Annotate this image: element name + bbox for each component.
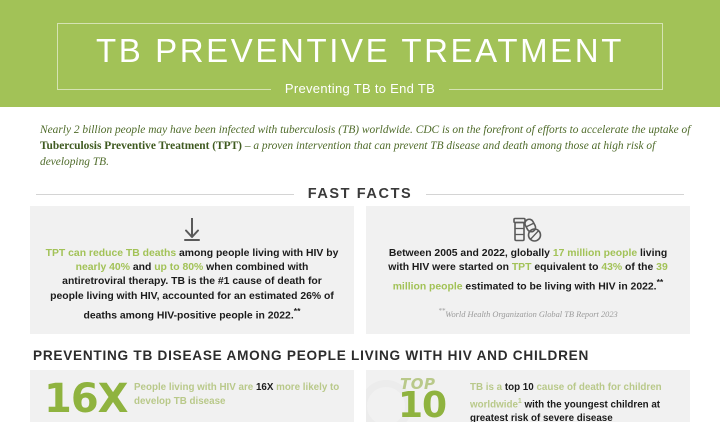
fast-fact-card-tpt-uptake: Between 2005 and 2022, globally 17 milli… [366,206,690,335]
intro-text-bold: Tuberculosis Preventive Treatment (TPT) [40,140,242,152]
stat-figure-16x: 16X [38,374,134,422]
hl-nearly-40: nearly 40% [76,262,130,273]
hl-up-to-80: up to 80% [154,262,203,273]
hl-43-percent: 43% [601,262,622,273]
header-frame-border: TB PREVENTIVE TREATMENT Preventing TB to… [57,23,663,90]
prevention-card-16x: 16X People living with HIV are 16X more … [30,370,354,422]
down-arrow-icon [44,215,340,245]
stat-text-16x-2: 16X [256,382,273,393]
fast-facts-card-row: TPT can reduce TB deaths among people li… [30,206,690,335]
fast-fact-card-text-left: TPT can reduce TB deaths among people li… [44,247,340,325]
prevention-card-16x-text: People living with HIV are 16X more like… [134,374,344,408]
stat-figure-top-10: TOP 10 [374,374,470,422]
fast-facts-title: FAST FACTS [294,186,427,202]
fast-facts-section-rule: FAST FACTS [36,185,684,200]
citation-who-report: **World Health Organization Global TB Re… [380,306,676,320]
fast-fact-card-text-right: Between 2005 and 2022, globally 17 milli… [380,247,676,296]
page-subtitle-wrap: Preventing TB to End TB [58,80,662,98]
page-subtitle: Preventing TB to End TB [271,80,449,97]
stat-text-16x-1: People living with HIV are [134,382,256,393]
prevention-card-top-10-text: TB is a top 10 cause of death for childr… [470,374,680,422]
fast-facts-label-wrap: FAST FACTS [36,185,684,203]
hl-tpt: TPT [512,262,532,273]
prevention-card-row: 16X People living with HIV are 16X more … [30,370,690,422]
hl-tpt-reduce-deaths: TPT can reduce TB deaths [46,248,177,259]
citation-text: World Health Organization Global TB Repo… [445,310,617,319]
hl-17-million-people: 17 million people [553,248,637,259]
txt-right-footnote-marker: ** [657,277,664,287]
fast-fact-card-tpt-reduces-deaths: TPT can reduce TB deaths among people li… [30,206,354,335]
intro-text-part1: Nearly 2 billion people may have been in… [40,124,690,136]
page-title: TB PREVENTIVE TREATMENT [58,32,662,70]
txt-right-1: Between 2005 and 2022, globally [389,248,553,259]
txt-left-footnote-marker: ** [294,306,301,316]
prevention-card-top-10: TOP 10 TB is a top 10 cause of death for… [366,370,690,422]
stat-big-number-10: 10 [398,387,446,422]
stat-text-top10-1: TB is a [470,382,505,393]
intro-paragraph: Nearly 2 billion people may have been in… [40,122,692,171]
stat-big-number-16x: 16X [44,378,128,420]
stat-text-top10-2: top 10 [505,382,534,393]
txt-right-7: of the [622,262,656,273]
prevention-section-title: PREVENTING TB DISEASE AMONG PEOPLE LIVIN… [33,348,720,363]
txt-right-9: estimated to be living with HIV in 2022. [463,282,657,293]
txt-left-2: among people living with HIV by [176,248,338,259]
txt-left-4: and [130,262,154,273]
txt-right-5: equivalent to [531,262,601,273]
page-header-band: TB PREVENTIVE TREATMENT Preventing TB to… [0,0,720,107]
pill-bottle-icon [380,215,676,245]
